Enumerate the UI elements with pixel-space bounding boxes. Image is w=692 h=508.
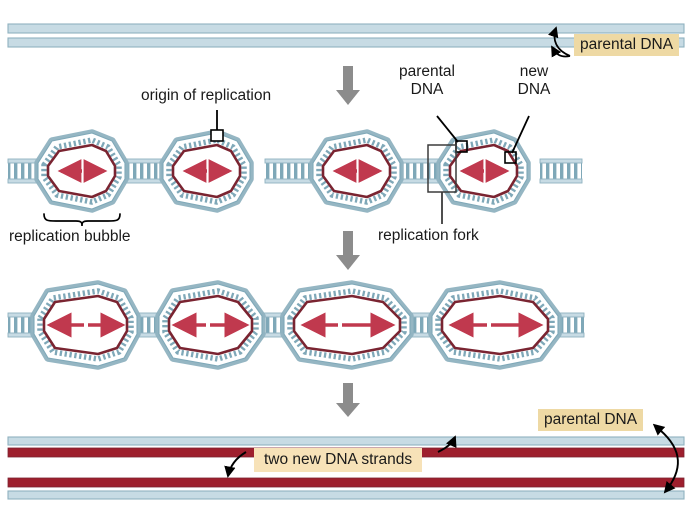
replication-bubble-1	[38, 133, 125, 209]
parental-dna-fork-line1: parental	[389, 63, 465, 81]
origin-of-replication-marker	[211, 130, 223, 141]
new-dna-fork-line1: new	[506, 63, 562, 81]
new-dna-fork-label: new DNA	[506, 63, 562, 100]
daughter2-new-strand	[8, 478, 684, 487]
parental-dna-bottom-label: parental DNA	[538, 411, 643, 429]
replication-bubble-large-4	[432, 284, 558, 366]
two-new-dna-strands-text: two new DNA strands	[254, 448, 422, 472]
diagram-canvas	[0, 0, 692, 508]
replication-bubble-large-3	[284, 284, 410, 366]
stage-3-bubbles-enlarged	[8, 284, 584, 366]
daughter2-parental-strand	[8, 491, 684, 499]
stage-2-replication-bubbles	[8, 110, 582, 226]
parental-dna-top-text: parental DNA	[574, 34, 679, 56]
daughter1-parental-strand	[8, 437, 684, 445]
parental-dna-top-label: parental DNA	[574, 36, 679, 54]
arrow-stage3-to-stage4	[336, 383, 360, 417]
replication-bubble-large-2	[159, 284, 262, 366]
arrow-stage2-to-stage3	[336, 231, 360, 270]
replication-bubble-large-1	[34, 284, 137, 366]
arrow-stage1-to-stage2	[336, 66, 360, 105]
replication-bubble-4	[428, 116, 529, 224]
dna-replication-figure: parental DNA origin of replication paren…	[0, 0, 692, 508]
parental-dna-fork-label: parental DNA	[389, 63, 465, 100]
replication-bubble-label: replication bubble	[9, 228, 131, 246]
two-new-dna-strands-label: two new DNA strands	[254, 451, 422, 469]
parental-dna-fork-line2: DNA	[389, 81, 465, 99]
replication-bubble-2	[163, 110, 250, 209]
parental-strand-top	[8, 24, 684, 33]
replication-fork-label: replication fork	[378, 227, 479, 245]
replication-bubble-brace	[44, 214, 120, 226]
parental-dna-leader	[437, 116, 458, 142]
origin-of-replication-label: origin of replication	[141, 87, 271, 105]
new-dna-fork-line2: DNA	[506, 81, 562, 99]
parental-dna-bottom-text: parental DNA	[538, 409, 643, 431]
replication-bubble-3	[313, 133, 400, 209]
